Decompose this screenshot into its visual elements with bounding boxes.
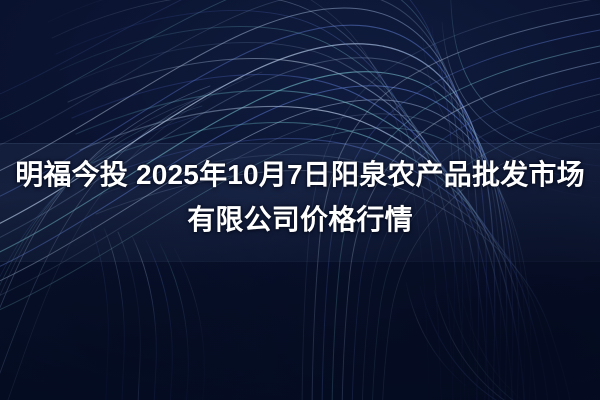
wave-group-center-right — [48, 0, 574, 400]
wave-group-bottom-right — [406, 282, 600, 400]
banner-root: 明福今投 2025年10月7日阳泉农产品批发市场 有限公司价格行情 — [0, 0, 600, 400]
wave-group-bottom-left — [90, 224, 204, 400]
wave-lines-artwork — [0, 0, 600, 400]
wave-group-left-edge-arcs — [0, 72, 262, 400]
wave-group-top-right-bend — [422, 0, 600, 198]
